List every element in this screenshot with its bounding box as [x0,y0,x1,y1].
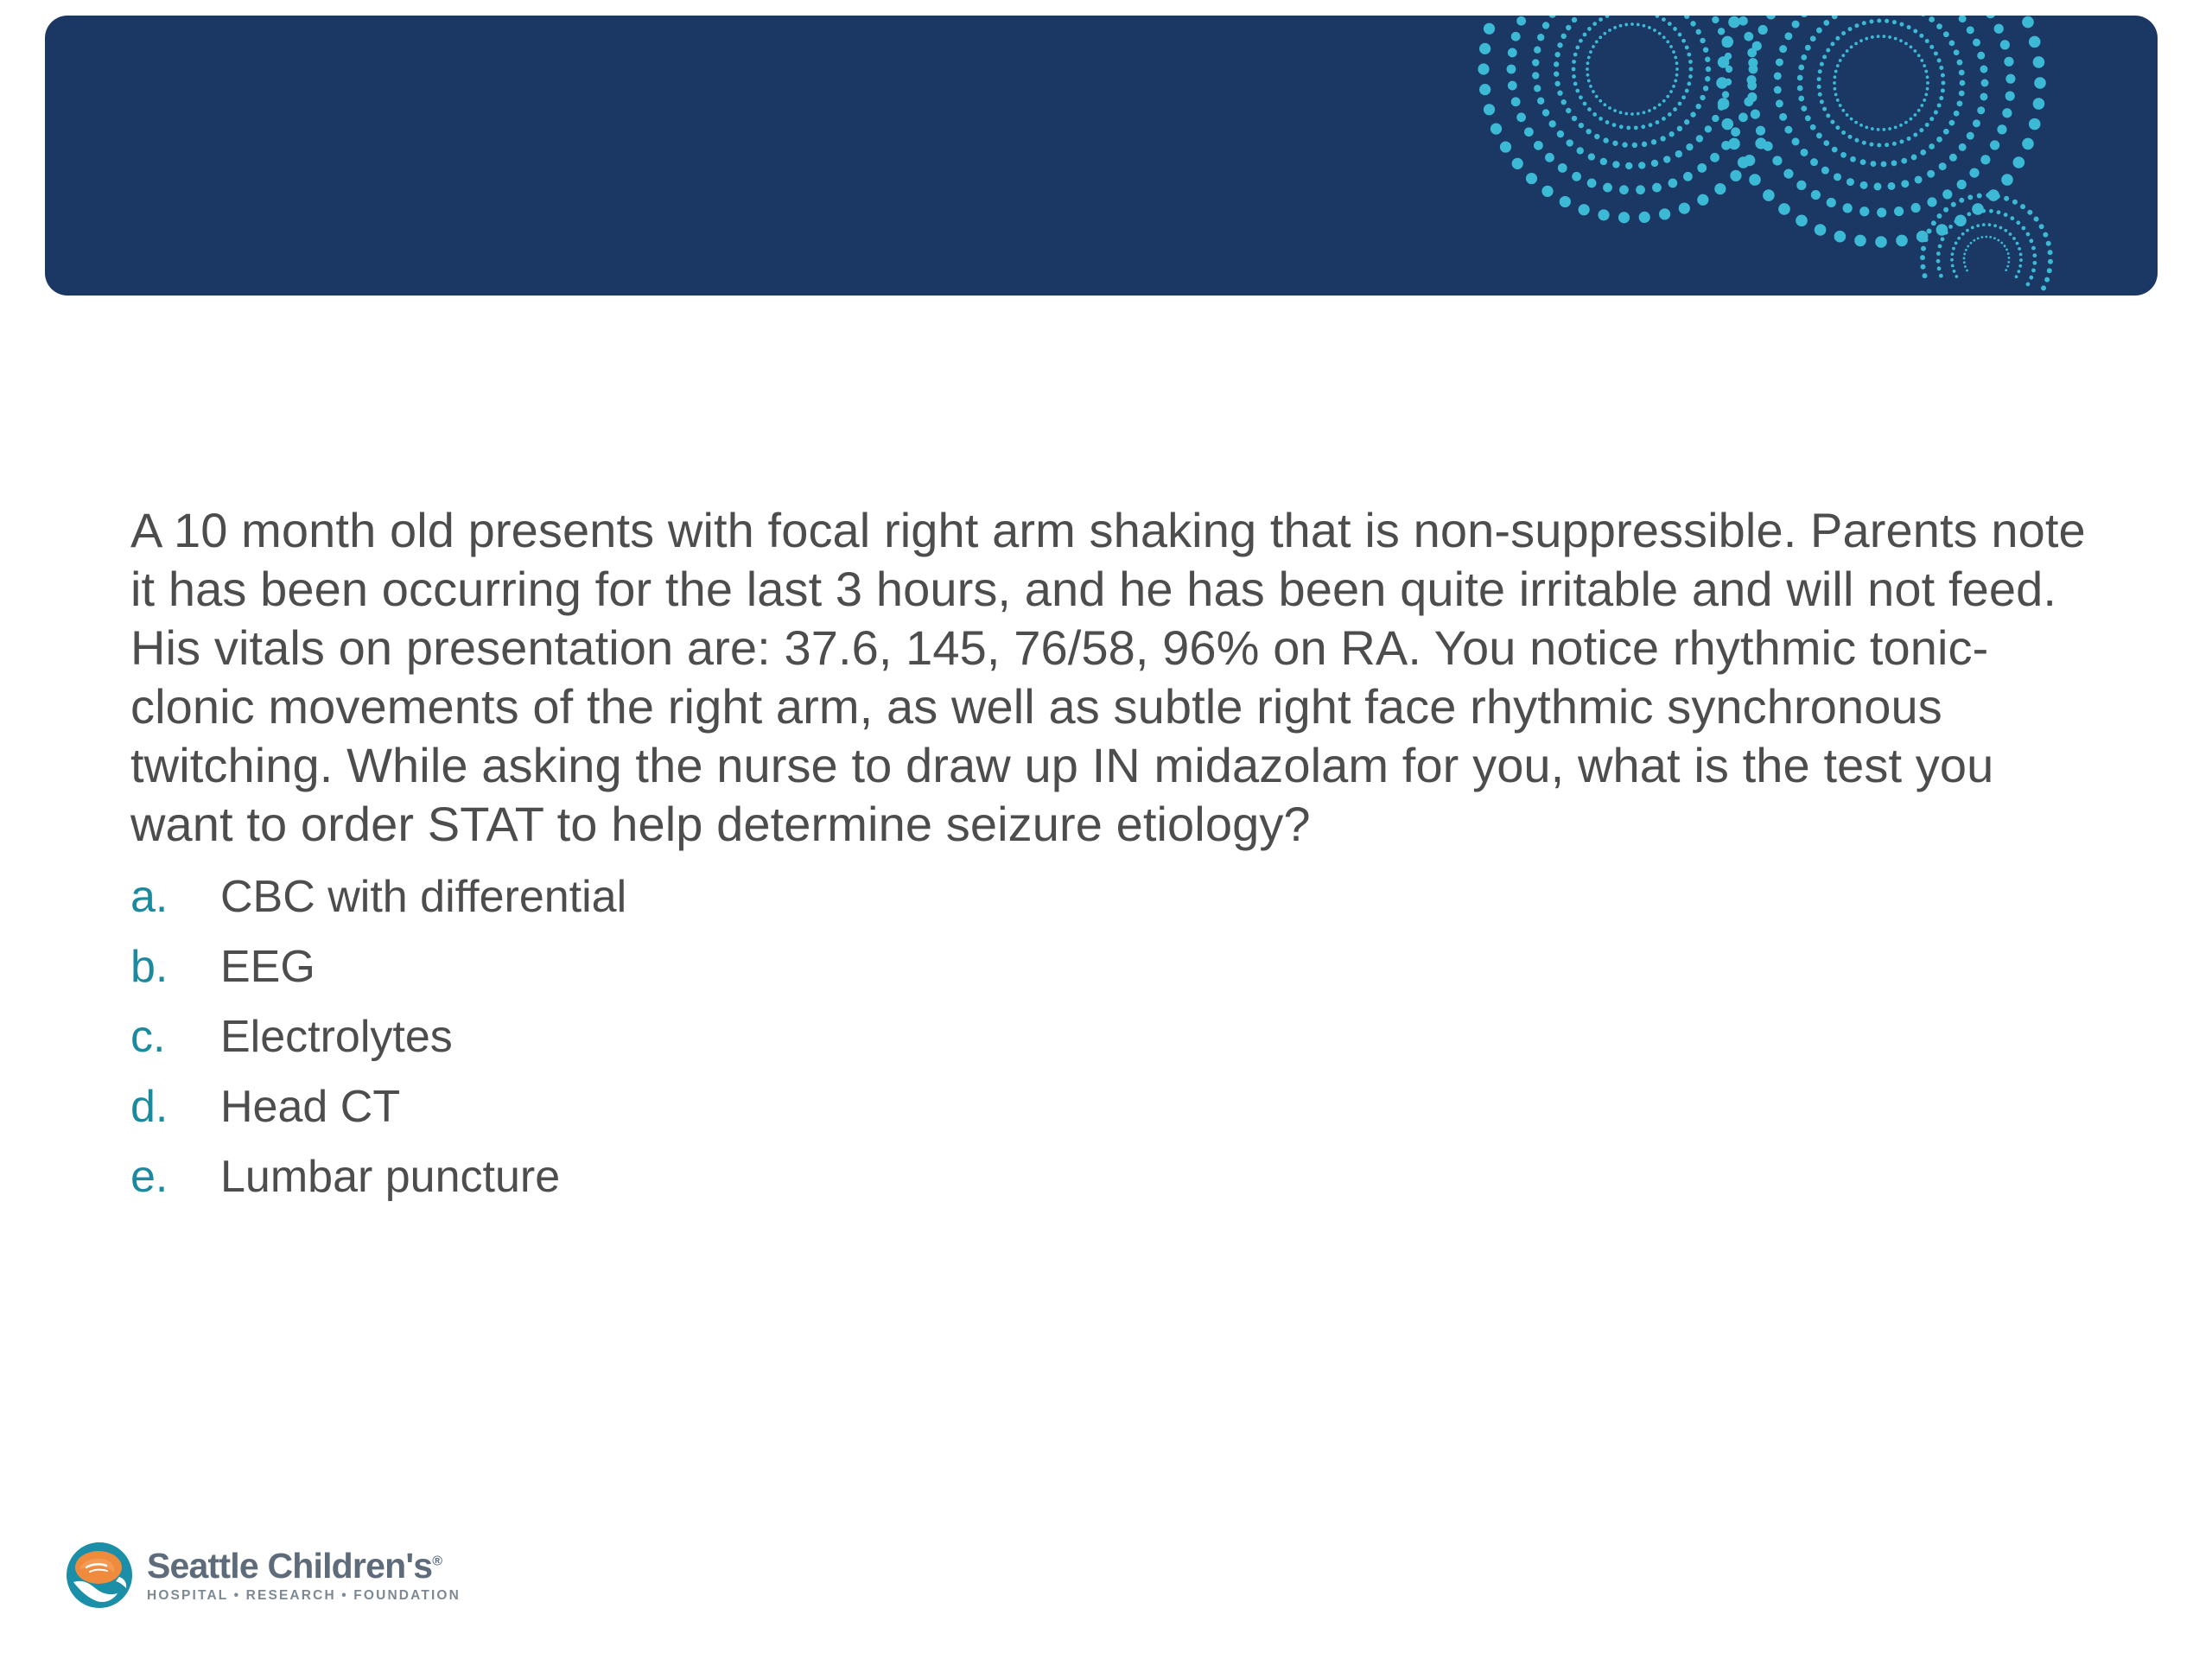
answer-option-c[interactable]: c. Electrolytes [130,1011,2101,1081]
question-text: A 10 month old presents with focal right… [130,501,2101,854]
answer-option-b[interactable]: b. EEG [130,941,2101,1011]
dotted-circles-decoration [1449,16,2158,296]
seattle-childrens-logo: Seattle Children's® HOSPITAL • RESEARCH … [66,1541,461,1609]
logo-tagline: HOSPITAL • RESEARCH • FOUNDATION [147,1587,461,1605]
answer-options-list: a. CBC with differential b. EEG c. Elect… [130,871,2101,1221]
logo-wordmark: Seattle Children's® [147,1547,461,1585]
answer-marker-d: d. [130,1081,220,1133]
logo-mark-icon [66,1541,133,1609]
answer-label-c: Electrolytes [220,1011,453,1063]
answer-marker-e: e. [130,1151,220,1203]
answer-label-b: EEG [220,941,315,993]
answer-label-d: Head CT [220,1081,400,1133]
answer-label-a: CBC with differential [220,871,626,923]
header-banner [45,16,2158,296]
answer-label-e: Lumbar puncture [220,1151,560,1203]
answer-marker-c: c. [130,1011,220,1063]
answer-option-a[interactable]: a. CBC with differential [130,871,2101,941]
answer-marker-a: a. [130,871,220,923]
answer-option-e[interactable]: e. Lumbar puncture [130,1151,2101,1221]
answer-option-d[interactable]: d. Head CT [130,1081,2101,1151]
registered-trademark-icon: ® [432,1554,442,1568]
slide-canvas: A 10 month old presents with focal right… [0,0,2212,1659]
logo-text-block: Seattle Children's® HOSPITAL • RESEARCH … [147,1547,461,1605]
slide-content: A 10 month old presents with focal right… [130,501,2101,1221]
logo-wordmark-text: Seattle Children's [147,1546,432,1586]
answer-marker-b: b. [130,941,220,993]
